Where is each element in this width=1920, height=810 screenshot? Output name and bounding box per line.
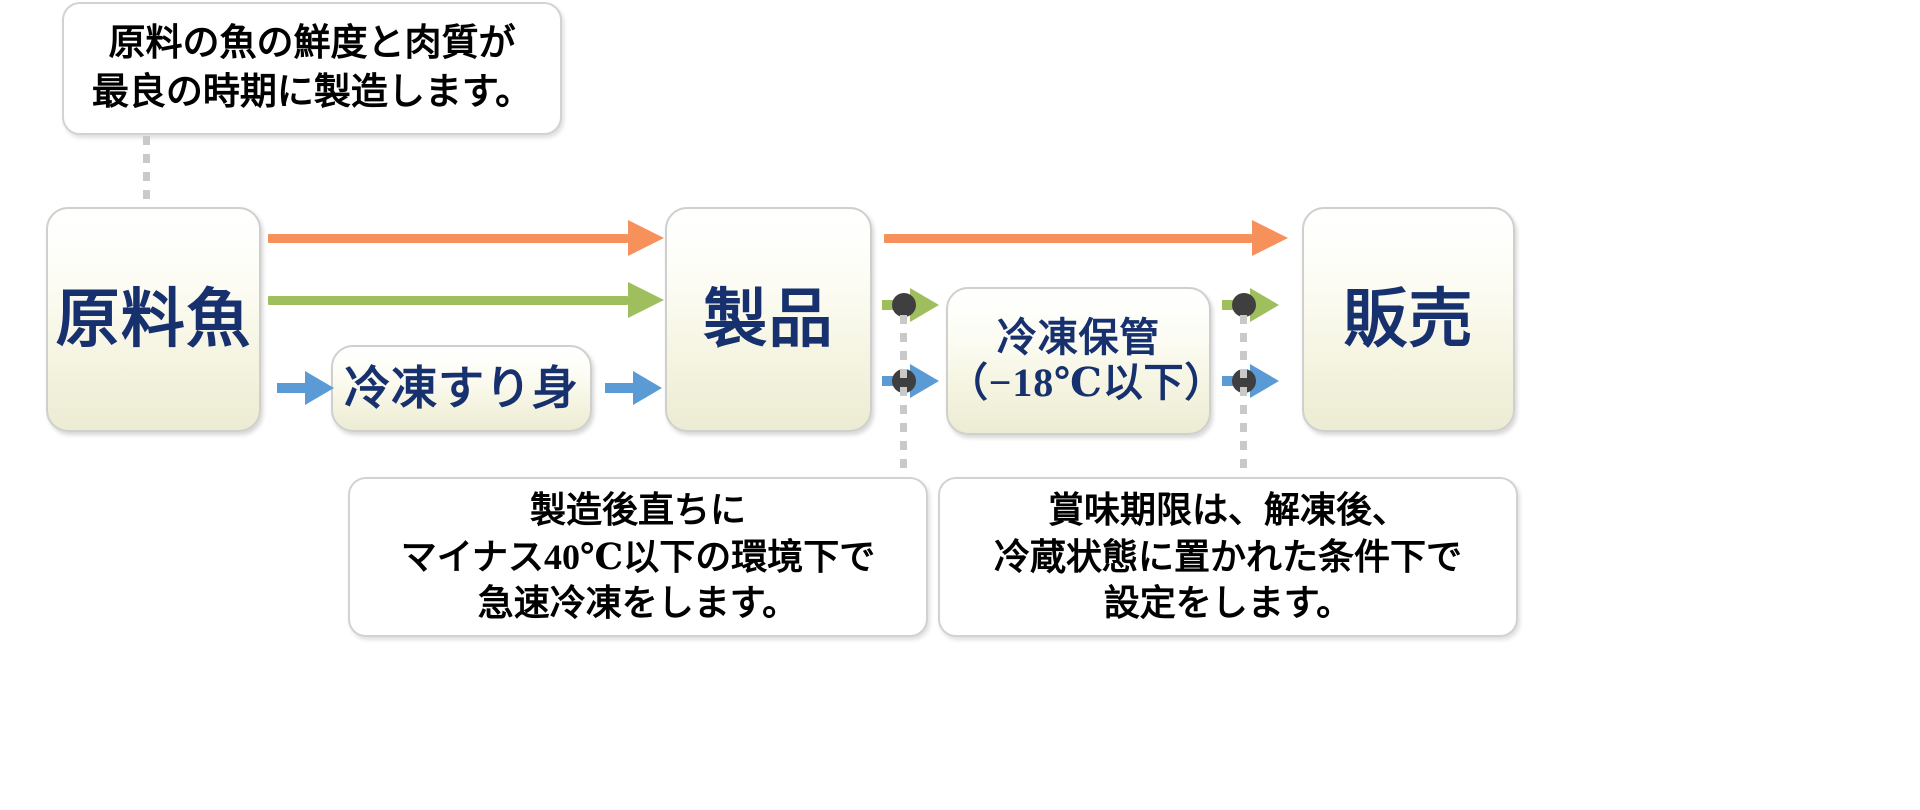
arrow-shaft — [605, 383, 633, 393]
callout-quick-freeze-note: 製造後直ちに マイナス40℃以下の環境下で 急速冷凍をします。 — [348, 477, 928, 637]
arrow-shaft — [268, 296, 628, 305]
node-raw-fish[interactable]: 原料魚 — [46, 207, 261, 432]
callout-raw-material-note: 原料の魚の鮮度と肉質が 最良の時期に製造します。 — [62, 2, 562, 135]
node-frozen-storage[interactable]: 冷凍保管 （−18℃以下） — [946, 287, 1211, 435]
node-sales[interactable]: 販売 — [1302, 207, 1515, 432]
node-raw-fish-label: 原料魚 — [56, 284, 252, 356]
node-frozen-storage-label-line2: （−18℃以下） — [948, 361, 1209, 406]
node-frozen-surimi[interactable]: 冷凍すり身 — [331, 345, 592, 432]
node-product-label: 製品 — [703, 284, 834, 356]
arrow-shaft — [884, 234, 1252, 243]
arrow-shaft — [268, 234, 628, 243]
arrow-shaft — [277, 383, 305, 393]
node-frozen-storage-label-line1: 冷凍保管 — [997, 316, 1160, 361]
diagram-canvas: 原料の魚の鮮度と肉質が 最良の時期に製造します。 原料魚 冷凍すり身 製品 冷凍… — [0, 0, 1920, 810]
callout-best-before-note: 賞味期限は、解凍後、 冷蔵状態に置かれた条件下で 設定をします。 — [938, 477, 1518, 637]
callout-best-before-text: 賞味期限は、解凍後、 冷蔵状態に置かれた条件下で 設定をします。 — [994, 487, 1462, 627]
arrow-head — [305, 371, 334, 405]
junction-dot-storage-green — [1232, 293, 1256, 317]
arrow-head — [633, 371, 662, 405]
callout-raw-material-text: 原料の魚の鮮度と肉質が 最良の時期に製造します。 — [92, 20, 532, 116]
leader-line-raw-material — [143, 136, 150, 208]
leader-line-quick-freeze — [900, 315, 907, 481]
node-frozen-surimi-label: 冷凍すり身 — [344, 363, 579, 415]
node-product[interactable]: 製品 — [665, 207, 872, 432]
node-sales-label: 販売 — [1343, 284, 1474, 356]
leader-line-best-before — [1240, 315, 1247, 481]
arrow-head — [628, 282, 664, 318]
junction-dot-product-green — [892, 293, 916, 317]
callout-quick-freeze-text: 製造後直ちに マイナス40℃以下の環境下で 急速冷凍をします。 — [401, 487, 875, 627]
arrow-head — [1252, 220, 1288, 256]
arrow-head — [628, 220, 664, 256]
